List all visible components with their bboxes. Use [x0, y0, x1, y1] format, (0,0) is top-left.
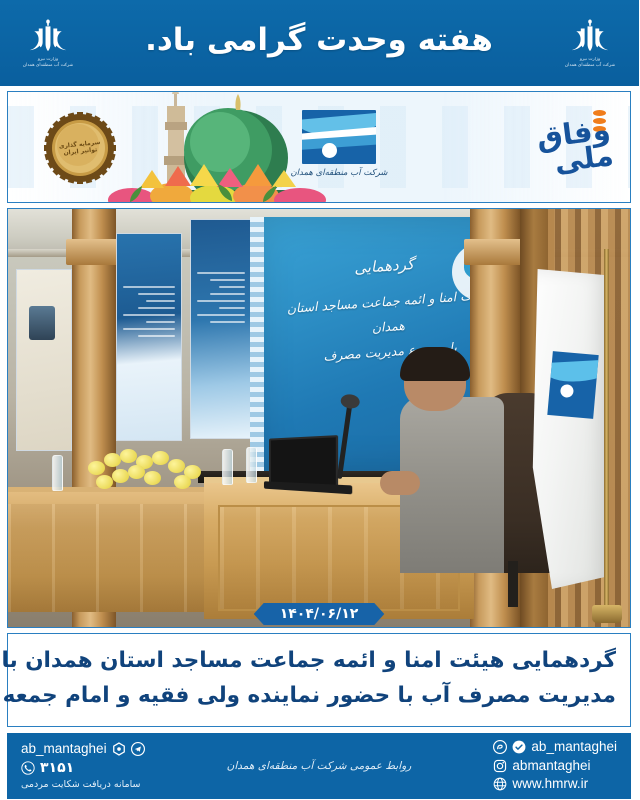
- standee-text-lines: [124, 286, 176, 342]
- headline-line-2: مدیریت مصرف آب با حضور نماینده ولی فقیه …: [23, 679, 617, 714]
- flower-arrangement: [87, 447, 211, 495]
- soroush-icon[interactable]: [113, 742, 127, 756]
- footer-social-row[interactable]: ab_mantaghei: [494, 739, 618, 755]
- flag-base: [593, 605, 623, 623]
- eitaa-icon[interactable]: [494, 740, 508, 754]
- headline-box: گردهمایی هیئت امنا و ائمه جماعت مساجد اس…: [8, 633, 632, 727]
- footer-social-row[interactable]: ab_mantaghei: [22, 741, 146, 757]
- instagram-icon[interactable]: [494, 759, 508, 773]
- footer-website[interactable]: www.hmrw.ir: [513, 776, 589, 792]
- emblem-caption-left: وزارت نیرو شرکت آب منطقه‌ای همدان: [566, 57, 616, 69]
- iran-emblem-right: وزارت نیرو شرکت آب منطقه‌ای همدان: [14, 10, 84, 76]
- iran-emblem-left: وزارت نیرو شرکت آب منطقه‌ای همدان: [556, 10, 626, 76]
- vefagh-melli-text: وفاق ملی: [524, 99, 618, 195]
- photo-canvas: گردهمایی هیئت امنا و ائمه جماعت مساجد اس…: [9, 209, 631, 627]
- flag-logo-icon: [548, 351, 599, 419]
- water-company-logo: شرکت آب منطقه‌ای همدان: [281, 110, 399, 194]
- chair-leg: [509, 561, 519, 607]
- poster-root: وزارت نیرو شرکت آب منطقه‌ای همدان هفته و…: [0, 0, 640, 800]
- poster-standee: [17, 269, 73, 451]
- water-bottle: [53, 455, 64, 491]
- water-bottle: [247, 447, 258, 483]
- footer-social-row[interactable]: abmantaghei: [494, 758, 591, 774]
- logo-band: سرمایه گذاری توانیر ایران: [8, 91, 632, 203]
- headline-text: گردهمایی هیئت امنا و ائمه جماعت مساجد اس…: [23, 644, 617, 714]
- footer-right-group: ab_mantaghei ۳۱۵۱ سامانه دریافت شکایت مر…: [22, 741, 146, 790]
- telegram-icon[interactable]: [132, 742, 146, 756]
- footer-handle-eitaa[interactable]: ab_mantaghei: [532, 739, 618, 755]
- headline-line-1: گردهمایی هیئت امنا و ائمه جماعت مساجد اس…: [23, 644, 617, 679]
- logo-circle: [323, 143, 338, 158]
- event-photo: گردهمایی هیئت امنا و ائمه جماعت مساجد اس…: [8, 208, 632, 628]
- phone-icon[interactable]: [22, 761, 36, 775]
- water-bottle: [223, 449, 234, 485]
- vefagh-melli-calligraphy: وفاق ملی: [529, 104, 613, 190]
- water-company-mark-icon: [303, 110, 377, 164]
- footer-handle-telegram[interactable]: ab_mantaghei: [22, 741, 108, 757]
- banner-line-2: هیئت امنا و ائمه جماعت مساجد استان همدان: [287, 287, 488, 335]
- standee-text-lines: [198, 272, 246, 328]
- gold-gear-seal-icon: سرمایه گذاری توانیر ایران: [45, 112, 117, 184]
- poster-standee: [191, 219, 253, 439]
- flag-pole: [605, 249, 610, 621]
- date-badge: ۱۴۰۴/۰۶/۱۲: [255, 603, 386, 625]
- globe-icon[interactable]: [494, 777, 508, 791]
- footer-left-group: ab_mantaghei abmantaghei www.hmrw.ir: [494, 739, 618, 792]
- page-title: هفته وحدت گرامی باد.: [84, 22, 556, 64]
- footer-center-credit: روابط عمومی شرکت آب منطقه‌ای همدان: [228, 760, 413, 772]
- header-band: وزارت نیرو شرکت آب منطقه‌ای همدان هفته و…: [0, 0, 640, 86]
- laptop: [270, 435, 339, 487]
- footer-phone-row[interactable]: ۳۱۵۱: [22, 760, 75, 776]
- emblem-caption-right: وزارت نیرو شرکت آب منطقه‌ای همدان: [24, 57, 74, 69]
- footer-phone-note: سامانه دریافت شکایت مردمی: [22, 779, 142, 790]
- footer-phone-number[interactable]: ۳۱۵۱: [41, 760, 75, 776]
- poster-standee: [117, 233, 183, 441]
- iran-emblem-glyph: [27, 18, 71, 54]
- footer-handle-instagram[interactable]: abmantaghei: [513, 758, 591, 774]
- iran-emblem-glyph: [569, 18, 613, 54]
- footer-website-row[interactable]: www.hmrw.ir: [494, 776, 589, 792]
- banner-frill: [251, 217, 265, 473]
- footer-bar: ab_mantaghei abmantaghei www.hmrw.ir: [8, 733, 632, 799]
- speaker-hand: [381, 471, 421, 495]
- bale-icon[interactable]: [513, 740, 527, 754]
- water-company-caption: شرکت آب منطقه‌ای همدان: [281, 168, 399, 178]
